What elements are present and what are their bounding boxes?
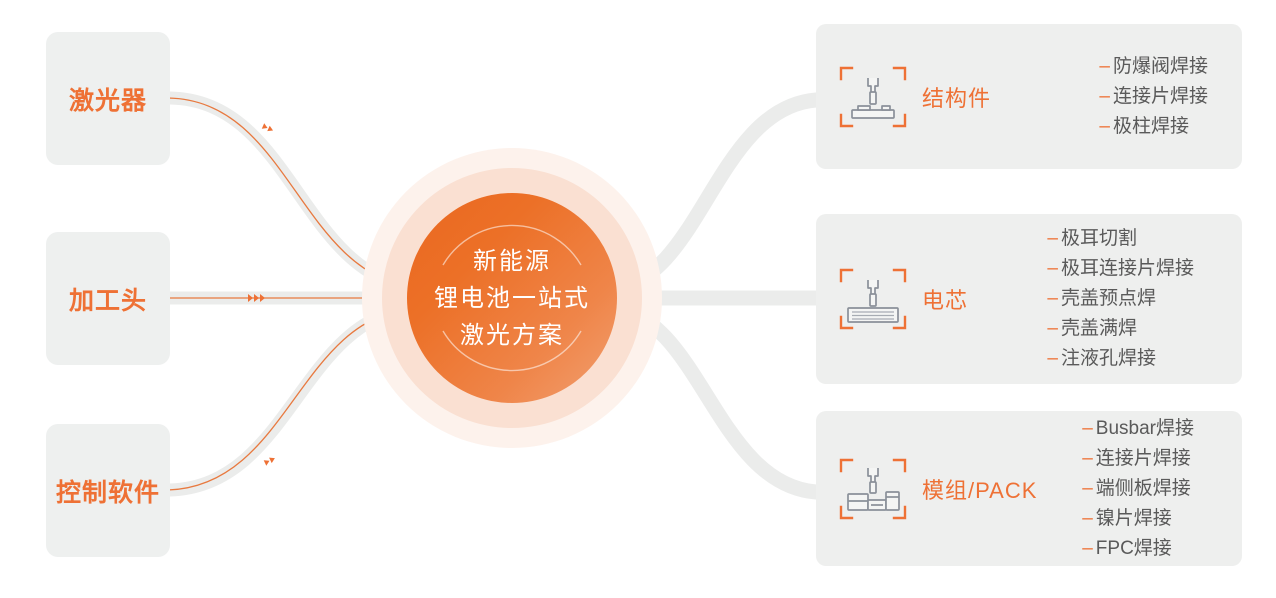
laser-welding-module-icon: [838, 456, 908, 522]
list-item: –极柱焊接: [1099, 112, 1208, 142]
hub-core-circle[interactable]: 新能源 锂电池一站式 激光方案: [407, 193, 617, 403]
list-item-label: 端侧板焊接: [1096, 478, 1191, 499]
dash-marker: –: [1082, 538, 1093, 559]
panel-item-list: –Busbar焊接 –连接片焊接 –端侧板焊接 –镍片焊接 –FPC焊接: [1082, 414, 1242, 564]
dash-marker: –: [1099, 116, 1110, 137]
list-item: –镍片焊接: [1082, 504, 1194, 534]
dash-marker: –: [1047, 228, 1058, 249]
panel-module-pack[interactable]: 模组/PACK –Busbar焊接 –连接片焊接 –端侧板焊接 –镍片焊接 –F…: [816, 411, 1242, 566]
panel-category-label: 电芯: [922, 283, 968, 315]
input-box-label: 激光器: [69, 81, 147, 117]
list-item: –FPC焊接: [1082, 534, 1194, 564]
list-item: –极耳切割: [1047, 224, 1194, 254]
list-item-label: 连接片焊接: [1113, 86, 1208, 107]
input-box-label: 控制软件: [56, 473, 160, 509]
hub-title: 新能源 锂电池一站式 激光方案: [434, 243, 590, 354]
list-item: –极耳连接片焊接: [1047, 254, 1194, 284]
panel-item-list: –极耳切割 –极耳连接片焊接 –壳盖预点焊 –壳盖满焊 –注液孔焊接: [1047, 224, 1242, 374]
dash-marker: –: [1047, 348, 1058, 369]
dash-marker: –: [1082, 448, 1093, 469]
laser-welding-plate-icon: [838, 64, 908, 130]
list-item-label: 防爆阀焊接: [1113, 56, 1208, 77]
list-item: –壳盖满焊: [1047, 314, 1194, 344]
dash-marker: –: [1047, 258, 1058, 279]
input-box-control-software[interactable]: 控制软件: [46, 424, 170, 557]
list-item-label: 极耳切割: [1061, 228, 1137, 249]
dash-marker: –: [1082, 478, 1093, 499]
list-item-label: Busbar焊接: [1096, 418, 1194, 439]
list-item-label: 注液孔焊接: [1061, 348, 1156, 369]
panel-category-label: 结构件: [922, 81, 991, 113]
list-item-label: FPC焊接: [1096, 538, 1172, 559]
list-item: –注液孔焊接: [1047, 344, 1194, 374]
list-item-label: 壳盖预点焊: [1061, 288, 1156, 309]
input-box-processing-head[interactable]: 加工头: [46, 232, 170, 365]
list-item: –Busbar焊接: [1082, 414, 1194, 444]
list-item-label: 连接片焊接: [1096, 448, 1191, 469]
dash-marker: –: [1047, 288, 1058, 309]
list-item-label: 镍片焊接: [1096, 508, 1172, 529]
panel-category-label: 模组/PACK: [922, 473, 1037, 505]
list-item-label: 极柱焊接: [1113, 116, 1189, 137]
dash-marker: –: [1082, 508, 1093, 529]
list-item-label: 极耳连接片焊接: [1061, 258, 1194, 279]
dash-marker: –: [1099, 86, 1110, 107]
panel-structural-parts[interactable]: 结构件 –防爆阀焊接 –连接片焊接 –极柱焊接: [816, 24, 1242, 169]
panel-battery-cell[interactable]: 电芯 –极耳切割 –极耳连接片焊接 –壳盖预点焊 –壳盖满焊 –注液孔焊接: [816, 214, 1242, 384]
input-box-laser-source[interactable]: 激光器: [46, 32, 170, 165]
dash-marker: –: [1047, 318, 1058, 339]
laser-welding-cell-icon: [838, 266, 908, 332]
list-item: –端侧板焊接: [1082, 474, 1194, 504]
list-item: –壳盖预点焊: [1047, 284, 1194, 314]
dash-marker: –: [1099, 56, 1110, 77]
dash-marker: –: [1082, 418, 1093, 439]
diagram-canvas: 激光器 加工头 控制软件 新能源 锂电池一站式 激光方案: [0, 0, 1276, 598]
list-item: –防爆阀焊接: [1099, 52, 1208, 82]
input-box-label: 加工头: [69, 281, 147, 317]
list-item-label: 壳盖满焊: [1061, 318, 1137, 339]
list-item: –连接片焊接: [1082, 444, 1194, 474]
panel-item-list: –防爆阀焊接 –连接片焊接 –极柱焊接: [1099, 52, 1242, 142]
list-item: –连接片焊接: [1099, 82, 1208, 112]
